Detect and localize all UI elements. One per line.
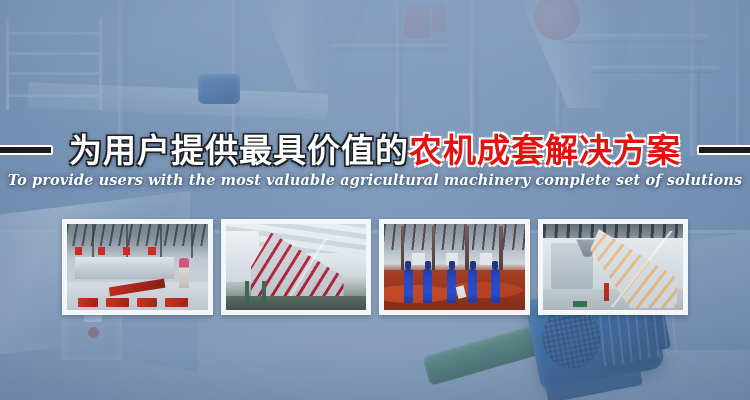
thumbnail-1-image [67, 224, 208, 310]
t1-red-marker [148, 247, 155, 255]
t1-beam [92, 224, 94, 258]
background-scene [0, 0, 750, 400]
headline-red-part: 农机成套解决方案 [409, 131, 681, 170]
t3-column [432, 226, 436, 271]
background-vignette [0, 0, 750, 400]
t1-product [78, 298, 98, 307]
thumbnail-strip [62, 219, 688, 315]
thumbnail-2[interactable] [221, 219, 372, 315]
thumbnail-3-image [384, 224, 525, 310]
thumbnail-4[interactable] [538, 219, 689, 315]
dash-right-decor [697, 145, 750, 155]
t1-red-marker [123, 247, 130, 255]
t3-column [401, 226, 405, 271]
dash-left-decor [0, 145, 53, 155]
t3-roof [384, 224, 525, 250]
t1-product [165, 298, 187, 307]
promo-banner: 为用户提供最具价值的农机成套解决方案 To provide users with… [0, 0, 750, 400]
headline-text: 为用户提供最具价值的农机成套解决方案 [69, 134, 681, 167]
thumbnail-2-image [226, 224, 367, 310]
t1-red-marker [75, 247, 82, 255]
thumbnail-3[interactable] [379, 219, 530, 315]
headline-row: 为用户提供最具价值的农机成套解决方案 [0, 126, 750, 174]
t4-red-post [604, 283, 608, 302]
t1-product [137, 298, 157, 307]
subtitle-text: To provide users with the most valuable … [0, 172, 750, 189]
t3-worker [447, 269, 456, 303]
t1-machine [75, 257, 173, 279]
t3-column [499, 226, 503, 271]
t1-worker [179, 258, 189, 287]
t4-green-base [573, 301, 587, 306]
t3-worker [491, 269, 500, 303]
t1-product [106, 298, 128, 307]
t3-worker [423, 269, 432, 303]
t2-post [262, 281, 266, 303]
t3-column [465, 226, 469, 271]
t1-red-marker [98, 247, 105, 255]
t1-beam [160, 224, 162, 258]
t3-window [480, 253, 493, 265]
t2-post [245, 281, 249, 303]
t3-worker [404, 269, 413, 303]
thumbnail-4-image [543, 224, 684, 310]
thumbnail-1[interactable] [62, 219, 213, 315]
t1-beam [191, 224, 193, 258]
headline-white-part: 为用户提供最具价值的 [69, 131, 409, 170]
t3-worker [468, 269, 477, 303]
t1-roof [67, 224, 208, 246]
t3-window [412, 253, 425, 265]
